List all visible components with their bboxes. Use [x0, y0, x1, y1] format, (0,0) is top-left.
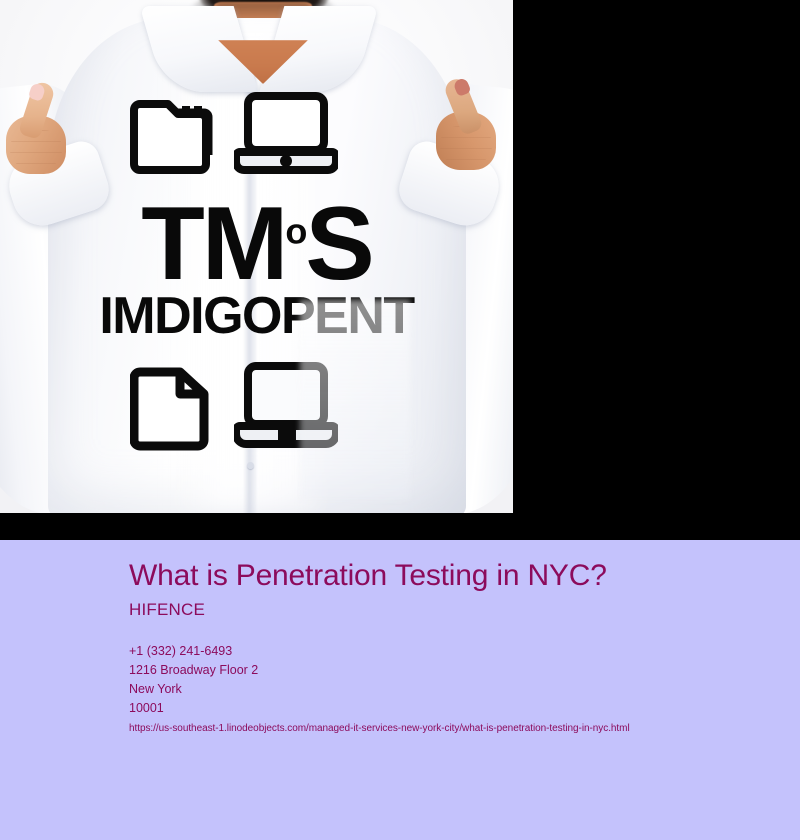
info-content: What is Penetration Testing in NYC? HIFE… [129, 558, 769, 736]
info-panel: What is Penetration Testing in NYC? HIFE… [0, 540, 800, 840]
shirt-placket [243, 48, 257, 513]
contact-street: 1216 Broadway Floor 2 [129, 661, 769, 680]
shirt-button [247, 462, 254, 469]
contact-block: +1 (332) 241-6493 1216 Broadway Floor 2 … [129, 642, 769, 718]
source-url-link[interactable]: https://us-southeast-1.linodeobjects.com… [129, 723, 630, 734]
brand-name: HIFENCE [129, 599, 769, 620]
hero-media-band: TMoS IMDIGOPENT [0, 0, 800, 540]
page-root: TMoS IMDIGOPENT Wh [0, 0, 800, 840]
contact-postal-code: 10001 [129, 699, 769, 718]
contact-phone[interactable]: +1 (332) 241-6493 [129, 642, 769, 661]
hero-photo: TMoS IMDIGOPENT [0, 0, 513, 513]
right-pointing-hand [432, 78, 502, 170]
person-figure [0, 0, 513, 513]
contact-city: New York [129, 680, 769, 699]
left-pointing-hand [2, 82, 72, 174]
page-title: What is Penetration Testing in NYC? [129, 558, 769, 594]
